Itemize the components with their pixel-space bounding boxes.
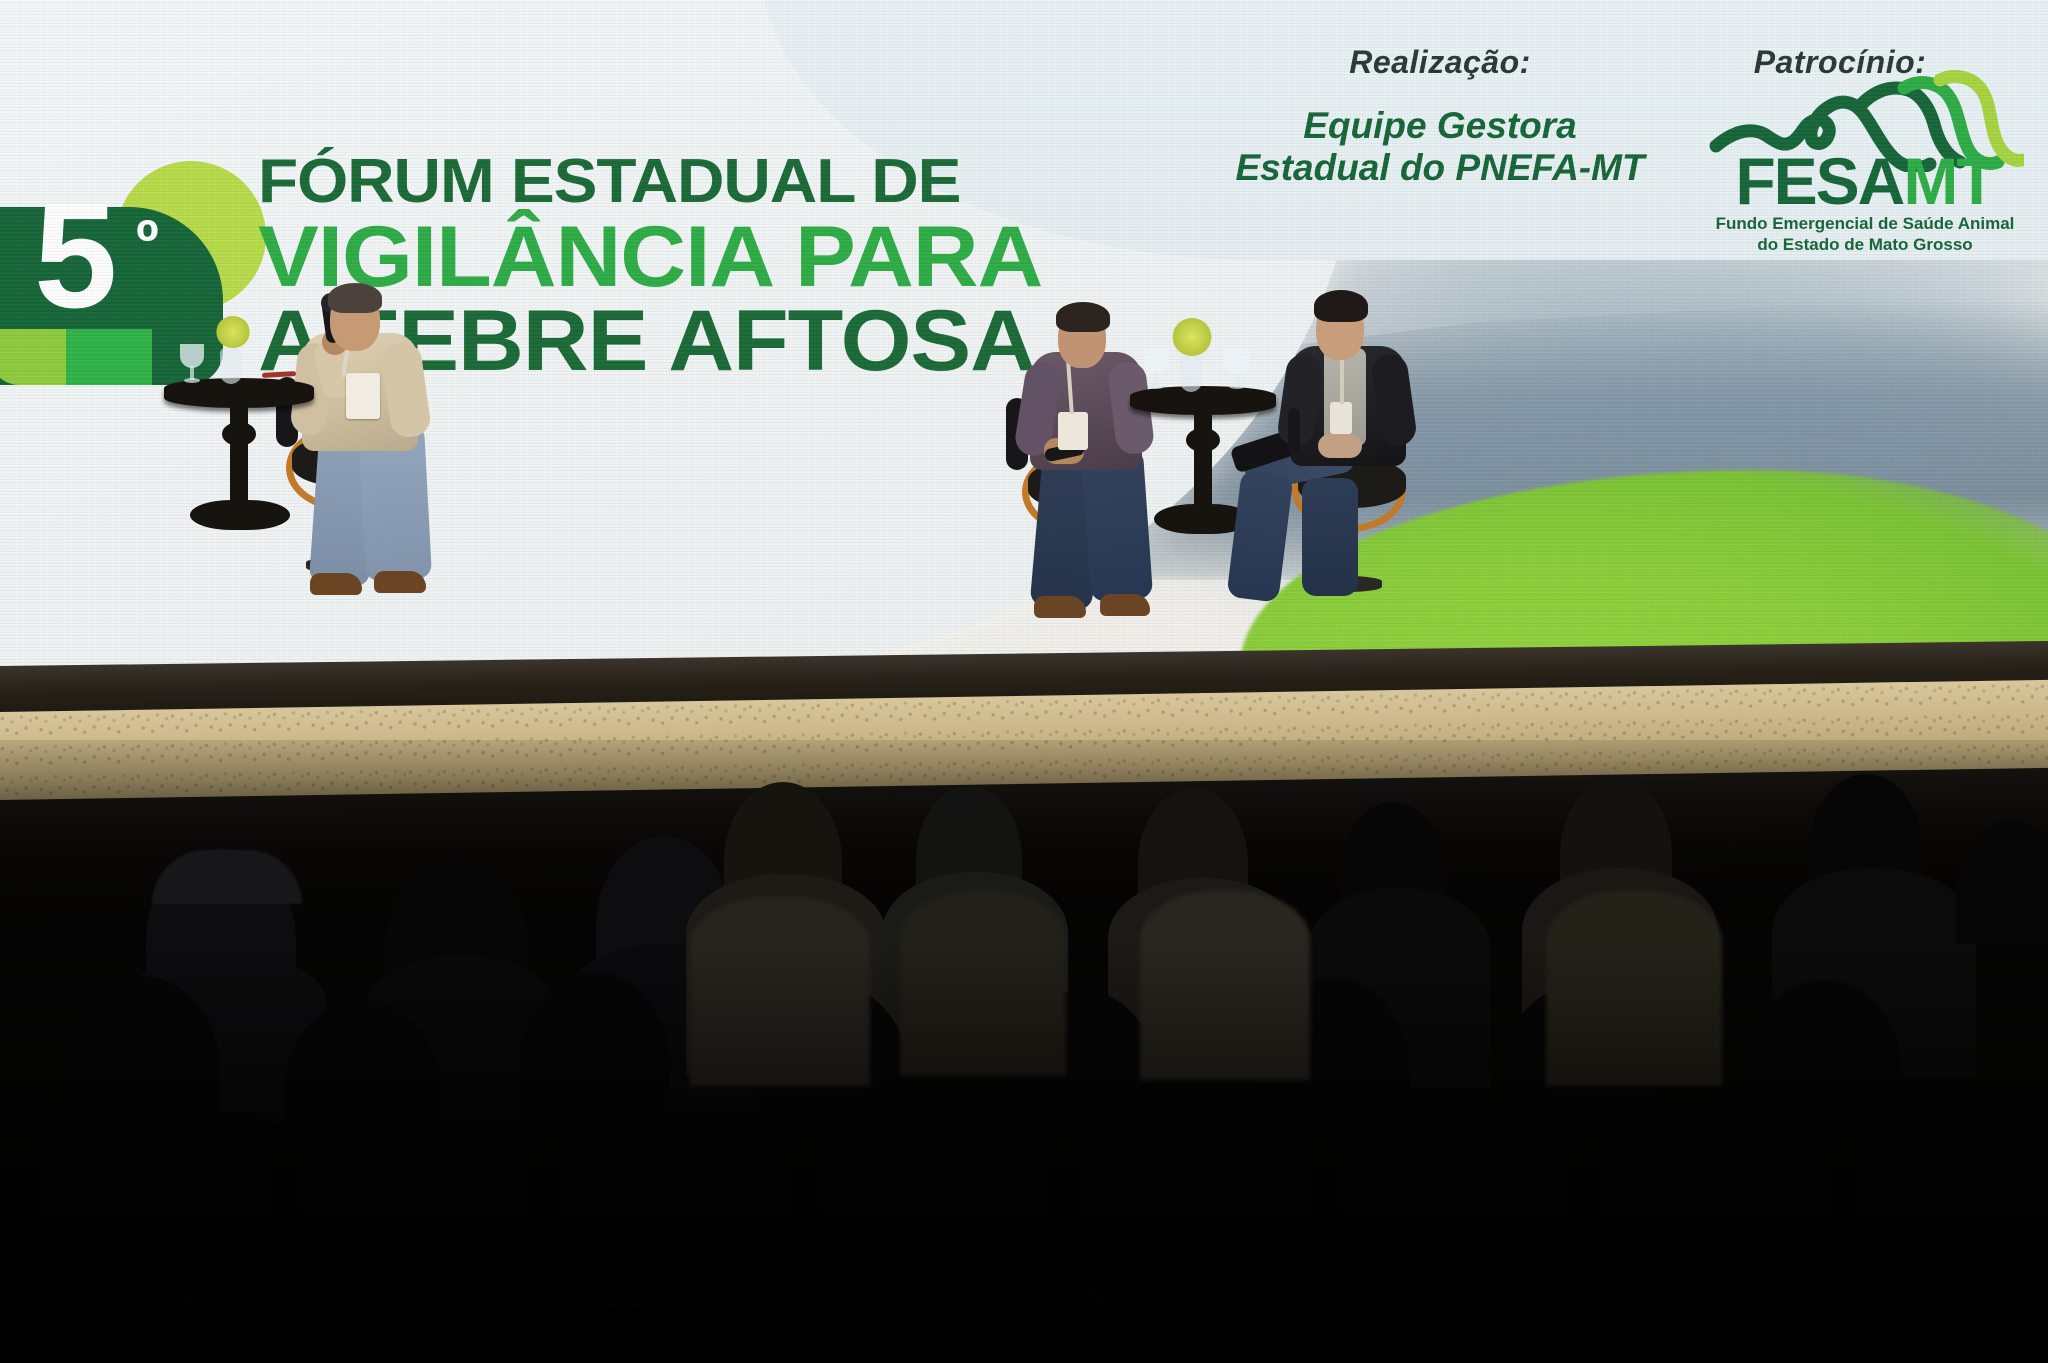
fesamt-tagline-line-1: Fundo Emergencial de Saúde Animal [1700,214,2030,235]
audience-light-shirt [1140,890,1310,1080]
fesamt-tagline: Fundo Emergencial de Saúde Animal do Est… [1700,214,2030,255]
panelist-right-leg-lower [1226,469,1293,602]
cattle-head-emblem-icon [164,1278,208,1322]
panelist-right-hands [1318,434,1362,458]
flower-vase-right [1180,354,1202,392]
panelist-center-shoe-far [1100,594,1150,616]
side-table-left-foot [190,500,290,530]
audience-light-shirt [900,890,1066,1076]
realizacao-organizer: Equipe Gestora Estadual do PNEFA-MT [1230,105,1650,189]
audience-chair-front [0,1260,280,1363]
audience-chair [1340,1122,1570,1292]
side-table-right-column [1194,409,1212,513]
panelist-right-lanyard [1340,354,1344,404]
audience-chair [560,1112,790,1284]
side-table-left-column-knob [222,422,256,446]
panelist-left-badge [346,373,380,419]
fesamt-tagline-line-2: do Estado de Mato Grosso [1700,235,2030,256]
audience-chair [1080,1114,1310,1286]
panelist-left-shoe-far [374,571,426,593]
panelist-center-shoe-near [1034,596,1086,618]
water-glass-right-1 [1144,350,1168,394]
audience-chair-front [420,1272,720,1363]
fesamt-wordmark: FESAMT [1700,148,2030,214]
panelist-center-badge [1058,412,1088,450]
audience-chair [40,1112,270,1282]
audience-light-shirt [690,896,870,1086]
realizacao-block: Realização: Equipe Gestora Estadual do P… [1230,44,1650,189]
audience-area [0,740,2048,1363]
realizacao-organizer-line-1: Equipe Gestora [1230,105,1650,147]
logo-ordinal-number: 5 [34,195,111,315]
conference-stage-photo: 5 º FÓRUM ESTADUAL DE VIGILÂNCIA PARA A … [0,0,2048,1363]
logo-ordinal-mark: º [136,215,159,271]
realizacao-label: Realização: [1230,44,1650,81]
audience-chair [1856,1120,2048,1292]
panelist-left-hair [328,283,382,313]
audience-chair [1600,1114,1830,1286]
panelist-right-hair [1314,290,1368,322]
audience-cap [152,850,302,904]
water-glass-left [180,344,204,386]
audience-chair [300,1120,530,1290]
realizacao-organizer-line-2: Estadual do PNEFA-MT [1230,147,1650,189]
panelist-right [1230,290,1440,680]
flower-vase-left [220,348,242,384]
panelist-center-hair [1056,302,1110,332]
panelist-right-badge [1330,402,1352,434]
panelist-right-leg-support [1302,478,1358,596]
audience-chair-front [1340,1270,1640,1363]
fesamt-acronym-1: FESA [1735,144,1903,218]
flower-left [216,316,250,348]
audience-light-shirt [1546,890,1722,1086]
cattle-head-emblem-icon [600,1288,644,1332]
cattle-head-emblem-icon [1070,1282,1114,1326]
side-table-right-column-knob [1186,428,1220,452]
side-table-left-column [230,402,248,508]
cattle-head-emblem-icon [1526,1286,1570,1330]
audience-member [1956,820,2048,944]
flower-right [1172,318,1212,356]
panelist-right-microphone [1288,408,1300,454]
event-title-line-1: FÓRUM ESTADUAL DE [258,152,1233,212]
fesamt-acronym-2: MT [1903,144,1994,218]
fesamt-sponsor-logo: FESAMT Fundo Emergencial de Saúde Animal… [1700,62,2030,252]
panelist-left-shoe-near [310,573,362,595]
audience-chair-front [880,1264,1180,1363]
side-table-left [164,378,314,533]
